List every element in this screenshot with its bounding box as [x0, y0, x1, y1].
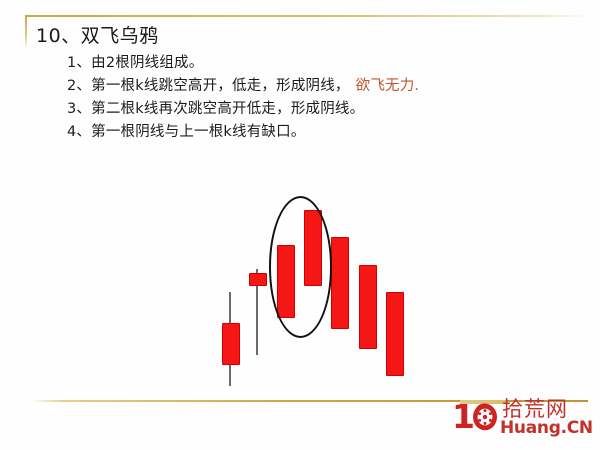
- candlestick-chart: [190, 200, 410, 400]
- slide-canvas: 10、双飞乌鸦 1、由2根阴线组成。 2、第一根k线跳空高开，低走，形成阴线，欲…: [0, 0, 600, 450]
- pattern-highlight-ellipse: [269, 196, 332, 338]
- left-gold-rule: [25, 15, 27, 49]
- gear-icon: [472, 403, 498, 431]
- logo-en-name: Huang.CN: [500, 419, 593, 438]
- page-title: 10、双飞乌鸦: [36, 24, 159, 48]
- candle-body: [331, 237, 349, 329]
- list-item: 2、第一根k线跳空高开，低走，形成阴线，欲飞无力.: [67, 75, 537, 98]
- list-item: 4、第一根阴线与上一根k线有缺口。: [67, 121, 537, 144]
- top-gold-rule: [25, 15, 597, 17]
- list-item-text: 4、第一根阴线与上一根k线有缺口。: [67, 124, 306, 140]
- list-item-text: 1、由2根阴线组成。: [67, 55, 203, 71]
- candle-body: [386, 292, 404, 376]
- list-item-text: 3、第二根k线再次跳空高开低走，形成阴线。: [67, 101, 364, 117]
- highlight-phrase: 欲飞无力.: [356, 78, 420, 94]
- list-item-text: 2、第一根k线跳空高开，低走，形成阴线，: [67, 78, 350, 94]
- candle-body: [249, 273, 267, 287]
- bullet-list: 1、由2根阴线组成。 2、第一根k线跳空高开，低走，形成阴线，欲飞无力. 3、第…: [67, 52, 537, 144]
- list-item: 1、由2根阴线组成。: [67, 52, 537, 75]
- candle-body: [222, 323, 240, 364]
- candle-body: [359, 265, 377, 349]
- list-item: 3、第二根k线再次跳空高开低走，形成阴线。: [67, 98, 537, 121]
- watermark-logo: 10 拾荒网 Huang.CN: [452, 398, 592, 446]
